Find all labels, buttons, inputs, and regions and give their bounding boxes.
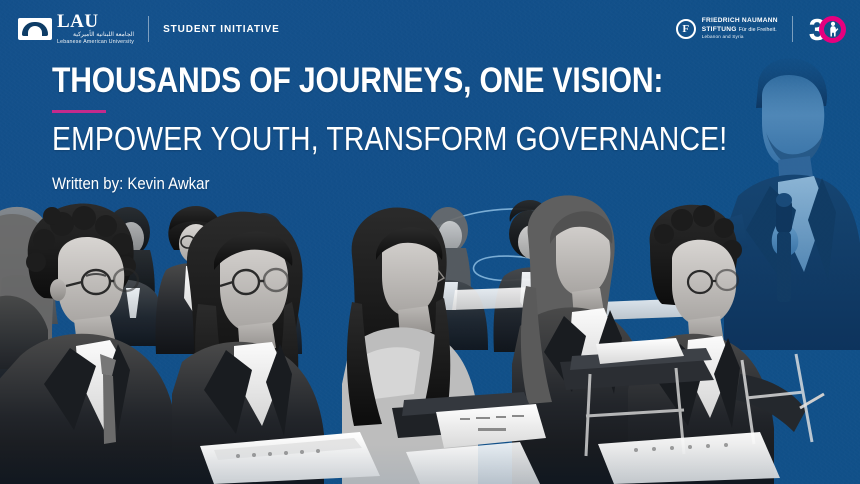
audience-students-photo — [0, 194, 860, 484]
article-byline: Written by: Kevin Awkar — [52, 174, 615, 194]
fnf-wordmark: FRIEDRICH NAUMANN STIFTUNG Für die Freih… — [702, 17, 778, 40]
fnf-line-2: STIFTUNG Für die Freiheit. — [702, 26, 778, 34]
accent-rule — [52, 110, 106, 113]
fnf-circle-f-icon: F — [676, 19, 696, 39]
fnf-line-1: FRIEDRICH NAUMANN — [702, 17, 778, 25]
lau-full-name: Lebanese American University — [57, 39, 134, 46]
fnf-line-3: Lebanon and Syria — [702, 34, 778, 41]
thirty-years-icon[interactable]: 3 — [809, 14, 846, 45]
article-hero-banner: LAU الجامعة اللبنانية الأميركية Lebanese… — [0, 0, 860, 484]
lau-arabic-name: الجامعة اللبنانية الأميركية — [57, 31, 134, 39]
lau-logo[interactable]: LAU الجامعة اللبنانية الأميركية Lebanese… — [18, 12, 134, 46]
anniversary-divider — [792, 16, 793, 42]
person-figure-icon — [827, 22, 838, 37]
headline-block: THOUSANDS OF JOURNEYS, ONE VISION: EMPOW… — [52, 62, 692, 194]
article-title-line-2: EMPOWER YOUTH, TRANSFORM GOVERNANCE! — [52, 122, 602, 157]
anniversary-numeral-zero-ring — [819, 16, 846, 43]
fnf-line-2-bold: STIFTUNG — [702, 26, 737, 33]
logo-divider — [148, 16, 149, 42]
fnf-line-2-tagline: Für die Freiheit. — [739, 27, 777, 33]
lau-acronym: LAU — [57, 12, 134, 31]
lau-logo-wordmark: LAU الجامعة اللبنانية الأميركية Lebanese… — [57, 12, 134, 46]
logo-bar: LAU الجامعة اللبنانية الأميركية Lebanese… — [0, 0, 860, 58]
lau-crest-icon — [18, 18, 52, 40]
student-initiative-label: STUDENT INITIATIVE — [163, 24, 280, 35]
fnf-logo[interactable]: F FRIEDRICH NAUMANN STIFTUNG Für die Fre… — [676, 17, 778, 40]
article-title-line-1: THOUSANDS OF JOURNEYS, ONE VISION: — [52, 62, 602, 99]
